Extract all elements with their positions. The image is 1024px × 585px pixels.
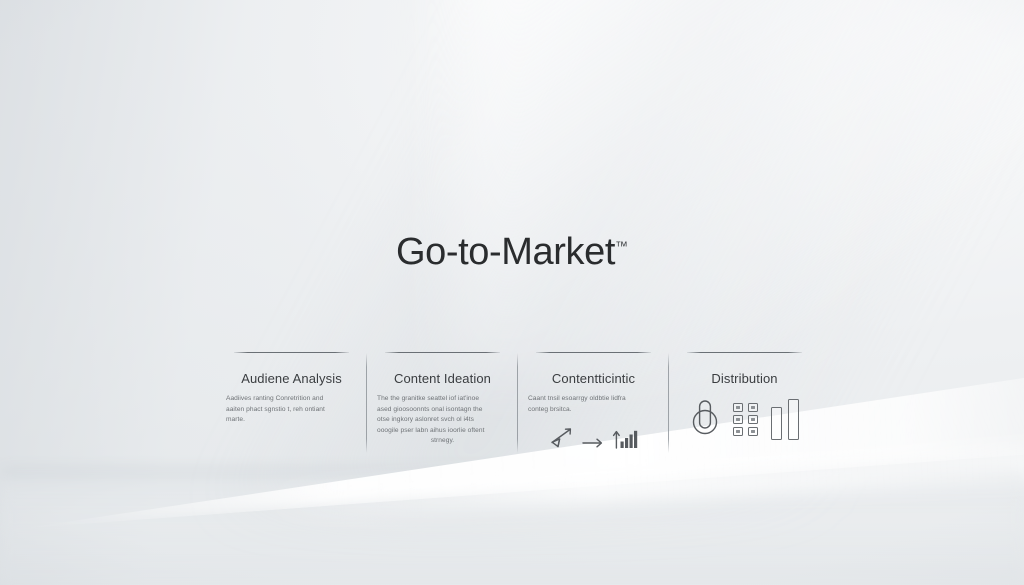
slide-canvas: Go-to-Market™ Audiene Analysis Aadiives … [0,0,1024,585]
column-distribution: Distribution [669,352,820,456]
tile [733,427,743,436]
column-content-ideation: Content Ideation The the granitke seatte… [367,352,518,456]
column-group: Audiene Analysis Aadiives ranting Conret… [216,352,820,456]
page-title: Go-to-Market™ [0,231,1024,274]
tile [748,403,758,412]
growth-icon-row [528,424,659,450]
body-line: ased gioosoonnts onal isontagn the [377,405,508,416]
column-divider-rule [385,352,500,353]
tile [748,415,758,424]
arrow-right-icon [582,436,604,450]
vertical-bars-icon [771,399,799,440]
column-heading-audience-analysis: Audiene Analysis [226,371,357,386]
column-heading-content-strategy: Contentticintic [528,371,659,386]
tile [733,415,743,424]
bar-chart-growth-icon [611,424,639,450]
column-audience-analysis: Audiene Analysis Aadiives ranting Conret… [216,352,367,456]
tile [748,427,758,436]
body-line: ooogile pser labn aihus ioorlie oftent [377,426,508,437]
trademark-symbol: ™ [615,238,628,253]
column-body-content-ideation: The the granitke seattel iof iat'inoe as… [377,394,508,447]
column-heading-distribution: Distribution [679,371,810,386]
column-content-strategy: Contentticintic Caant tnsil esoarrgy old… [518,352,669,456]
column-heading-content-ideation: Content Ideation [377,371,508,386]
column-body-content-strategy: Caant tnsil esoarrgy oldbtie lidfra cont… [528,394,659,415]
slide-content: Go-to-Market™ Audiene Analysis Aadiives … [0,0,1024,585]
body-line: aaiten phact sgnstio t, reh ontiant [226,405,357,416]
power-toggle-icon [690,397,720,442]
column-divider-rule [536,352,651,353]
page-title-text: Go-to-Market [396,231,615,273]
tile [733,403,743,412]
body-line: The the granitke seattel iof iat'inoe [377,394,508,405]
distribution-icon-row [679,397,810,442]
vertical-bar [771,407,782,440]
column-body-audience-analysis: Aadiives ranting Conretrition and aaiten… [226,394,357,426]
body-line: strnegy. [377,436,508,447]
body-line: Caant tnsil esoarrgy oldbtie lidfra [528,394,659,405]
vertical-bar [788,399,799,440]
body-line: conteg brsitca. [528,405,659,416]
column-divider-rule [234,352,349,353]
body-line: Aadiives ranting Conretrition and [226,394,357,405]
tile-grid-icon [733,403,758,436]
body-line: otse ingkory aslonret svch ol i4ts [377,415,508,426]
paper-plane-icon [549,426,575,450]
column-divider-rule [687,352,802,353]
body-line: marte. [226,415,357,426]
